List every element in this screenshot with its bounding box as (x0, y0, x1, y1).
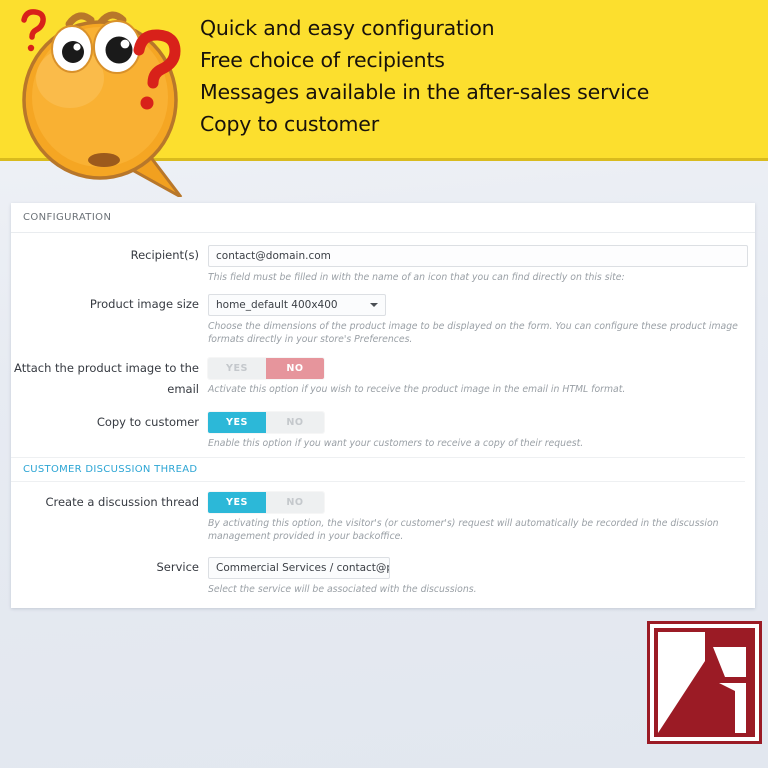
promo-feature-line-2: Free choice of recipients (200, 44, 760, 76)
product-image-size-value: home_default 400x400 (216, 299, 338, 311)
copy-to-customer-toggle-no[interactable]: NO (266, 412, 324, 433)
create-thread-help-text: By activating this option, the visitor's… (208, 517, 745, 543)
chevron-down-icon (370, 303, 378, 307)
copy-to-customer-label: Copy to customer (11, 412, 208, 433)
service-value: Commercial Services / contact@prestatool… (216, 562, 390, 574)
create-thread-toggle[interactable]: YES NO (208, 492, 324, 513)
panel-body: Recipient(s) This field must be filled i… (11, 233, 755, 596)
promo-feature-list: Quick and easy configuration Free choice… (200, 12, 760, 140)
form-row-recipients: Recipient(s) This field must be filled i… (11, 245, 745, 284)
attach-image-label: Attach the product image to the email (11, 358, 208, 400)
recipients-input[interactable] (208, 245, 748, 267)
form-row-create-thread: Create a discussion thread YES NO By act… (11, 492, 745, 543)
promo-feature-line-4: Copy to customer (200, 108, 760, 140)
product-image-size-control: home_default 400x400 Choose the dimensio… (208, 294, 745, 346)
recipients-control: This field must be filled in with the na… (208, 245, 745, 284)
promo-feature-line-1: Quick and easy configuration (200, 12, 760, 44)
configuration-panel: CONFIGURATION Recipient(s) This field mu… (11, 203, 755, 608)
attach-image-toggle-yes[interactable]: YES (208, 358, 266, 379)
service-help-text: Select the service will be associated wi… (208, 583, 745, 596)
copy-to-customer-toggle-yes[interactable]: YES (208, 412, 266, 433)
create-thread-toggle-no[interactable]: NO (266, 492, 324, 513)
form-row-attach-image: Attach the product image to the email YE… (11, 358, 745, 400)
create-thread-label: Create a discussion thread (11, 492, 208, 513)
panel-header: CONFIGURATION (11, 203, 755, 233)
recipients-help-text: This field must be filled in with the na… (208, 271, 745, 284)
product-image-size-help-text: Choose the dimensions of the product ima… (208, 320, 745, 346)
create-thread-control: YES NO By activating this option, the vi… (208, 492, 745, 543)
customer-discussion-thread-title: CUSTOMER DISCUSSION THREAD (23, 464, 197, 475)
copy-to-customer-help-text: Enable this option if you want your cust… (208, 437, 745, 450)
recipients-label: Recipient(s) (11, 245, 208, 266)
service-control: Commercial Services / contact@prestatool… (208, 557, 745, 596)
form-row-copy-to-customer: Copy to customer YES NO Enable this opti… (11, 412, 745, 450)
create-thread-toggle-yes[interactable]: YES (208, 492, 266, 513)
copy-to-customer-control: YES NO Enable this option if you want yo… (208, 412, 745, 450)
copy-to-customer-toggle[interactable]: YES NO (208, 412, 324, 433)
product-image-size-select[interactable]: home_default 400x400 (208, 294, 386, 316)
attach-image-toggle[interactable]: YES NO (208, 358, 324, 379)
form-row-service: Service Commercial Services / contact@pr… (11, 557, 745, 596)
customer-discussion-thread-section-header: CUSTOMER DISCUSSION THREAD (11, 457, 745, 482)
promo-feature-line-3: Messages available in the after-sales se… (200, 76, 760, 108)
service-select[interactable]: Commercial Services / contact@prestatool… (208, 557, 390, 579)
m-logo (647, 621, 762, 744)
attach-image-help-text: Activate this option if you wish to rece… (208, 383, 745, 396)
product-image-size-label: Product image size (11, 294, 208, 315)
question-speech-bubble-mascot-icon (6, 2, 206, 197)
attach-image-control: YES NO Activate this option if you wish … (208, 358, 745, 396)
app-screenshot: Quick and easy configuration Free choice… (0, 0, 768, 768)
form-row-product-image-size: Product image size home_default 400x400 … (11, 294, 745, 346)
page-title: CONFIGURATION (23, 212, 111, 223)
service-label: Service (11, 557, 208, 578)
attach-image-toggle-no[interactable]: NO (266, 358, 324, 379)
